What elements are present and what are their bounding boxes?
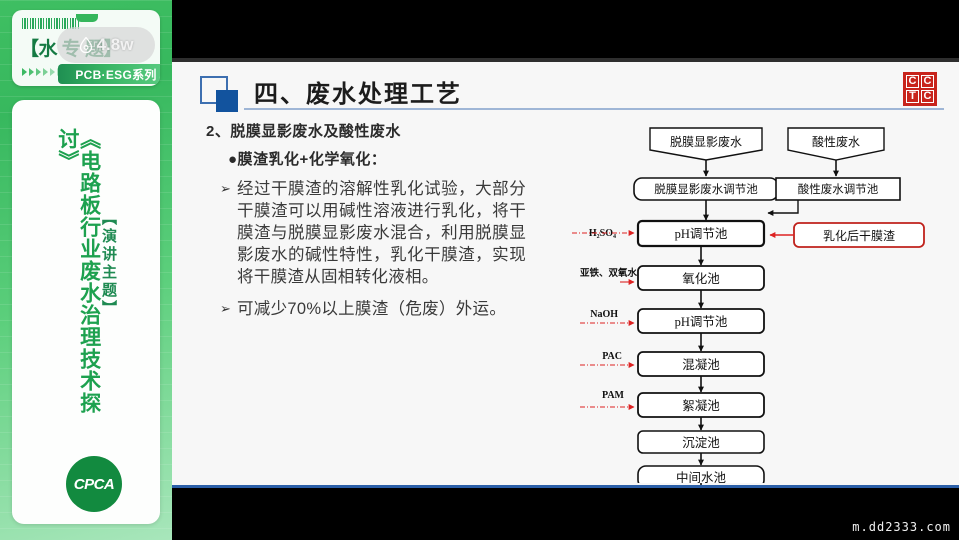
reagent-text: NaOH	[590, 309, 618, 320]
sub-label: ●膜渣乳化+化学氧化：	[228, 148, 526, 169]
cctc-cell-3: T	[906, 90, 919, 103]
view-count-overlay: 4.8w	[57, 27, 155, 63]
promo-card-main[interactable]: 《电路板行业废水治理技术探讨》 【演讲主题】 CPCA	[12, 100, 160, 524]
bullet-text: 经过干膜渣的溶解性乳化试验，大部分干膜渣可以用碱性溶液进行乳化，将干膜渣与脱膜显…	[237, 179, 526, 289]
view-count-label: 4.8w	[97, 35, 134, 55]
reagent-label-r4: PAC	[580, 351, 634, 365]
flow-node-n5: pH调节池	[638, 221, 764, 246]
cpca-logo: CPCA	[66, 456, 122, 512]
flow-node-label: 乳化后干膜渣	[823, 229, 895, 243]
cctc-cell-4: C	[921, 90, 934, 103]
bottom-black-strip	[172, 488, 959, 540]
presentation-slide: 四、废水处理工艺 C C T C 2、脱膜显影废水及酸性废水 ●膜渣乳化+化学氧…	[172, 58, 959, 488]
vertical-title: 《电路板行业废水治理技术探讨》	[56, 128, 100, 418]
flow-node-label: 混凝池	[682, 357, 720, 372]
bullet-marker-icon: ➢	[220, 179, 237, 289]
reagent-label-r5: PAM	[580, 390, 634, 407]
reagent-label-r2: 亚铁、双氧水	[580, 267, 638, 282]
cctc-cell-2: C	[921, 75, 934, 88]
droplet-icon	[79, 37, 93, 53]
vertical-subtitle: 【演讲主题】	[98, 210, 119, 318]
list-item: ➢ 经过干膜渣的溶解性乳化试验，大部分干膜渣可以用碱性溶液进行乳化，将干膜渣与脱…	[220, 179, 526, 289]
flow-node-label: 沉淀池	[682, 436, 720, 450]
screen-root: 【水 专 题】 PCB·ESG系列 4.8w 《电路板行业废水治理技术探讨》 【…	[0, 0, 959, 540]
flow-node-n11: 沉淀池	[638, 431, 764, 453]
flow-node-n4: 酸性废水调节池	[776, 178, 900, 200]
page-title: 四、废水处理工艺	[254, 74, 462, 109]
flow-node-n6: 乳化后干膜渣	[794, 223, 924, 247]
list-item: ➢ 可减少70%以上膜渣（危废）外运。	[220, 299, 526, 321]
flow-node-n7: 氧化池	[638, 266, 764, 290]
reagent-label-r1: H₂SO₄	[572, 228, 634, 239]
cctc-cell-1: C	[906, 75, 919, 88]
section-label: 2、脱膜显影废水及酸性废水	[206, 120, 526, 141]
flow-node-n3: 脱膜显影废水调节池	[634, 178, 778, 200]
process-flow-diagram: 脱膜显影废水 酸性废水 脱膜显影废水调节池 酸性废水调节池	[572, 108, 952, 483]
flow-node-n8: pH调节池	[638, 309, 764, 333]
flow-node-n9: 混凝池	[638, 352, 764, 376]
cctc-logo: C C T C	[903, 72, 937, 106]
flow-node-label: 酸性废水	[812, 134, 860, 149]
reagent-text: PAM	[602, 390, 625, 401]
flow-node-n2: 酸性废水	[788, 128, 884, 160]
bullet-marker-icon: ➢	[220, 299, 237, 321]
flow-node-label: 脱膜显影废水调节池	[654, 182, 758, 196]
watermark: m.dd2333.com	[852, 520, 951, 534]
flow-node-label: 酸性废水调节池	[798, 182, 879, 196]
flow-svg: 脱膜显影废水 酸性废水 脱膜显影废水调节池 酸性废水调节池	[572, 108, 952, 483]
flow-node-label: pH调节池	[675, 227, 728, 241]
left-promo-column: 【水 专 题】 PCB·ESG系列 4.8w 《电路板行业废水治理技术探讨》 【…	[0, 0, 172, 540]
bullet-text: 可减少70%以上膜渣（危废）外运。	[237, 299, 506, 321]
flow-node-label: pH调节池	[675, 315, 728, 329]
tab-marker-icon	[76, 14, 98, 22]
reagent-label-r3: NaOH	[580, 309, 634, 323]
flow-node-n12: 中间水池	[638, 466, 764, 483]
slide-top-bar	[172, 58, 959, 62]
title-square-solid-icon	[216, 90, 238, 112]
flow-node-n1: 脱膜显影废水	[650, 128, 762, 160]
reagent-text: 亚铁、双氧水	[580, 267, 638, 279]
flow-node-label: 絮凝池	[682, 398, 720, 413]
flow-node-label: 脱膜显影废水	[670, 134, 742, 149]
reagent-text: PAC	[602, 351, 622, 362]
flow-node-n10: 絮凝池	[638, 393, 764, 417]
flow-node-label: 中间水池	[676, 470, 727, 483]
slide-body-text: 2、脱膜显影废水及酸性废水 ●膜渣乳化+化学氧化： ➢ 经过干膜渣的溶解性乳化试…	[196, 120, 526, 321]
esg-series-badge: PCB·ESG系列	[58, 64, 160, 84]
flow-node-label: 氧化池	[682, 272, 720, 286]
